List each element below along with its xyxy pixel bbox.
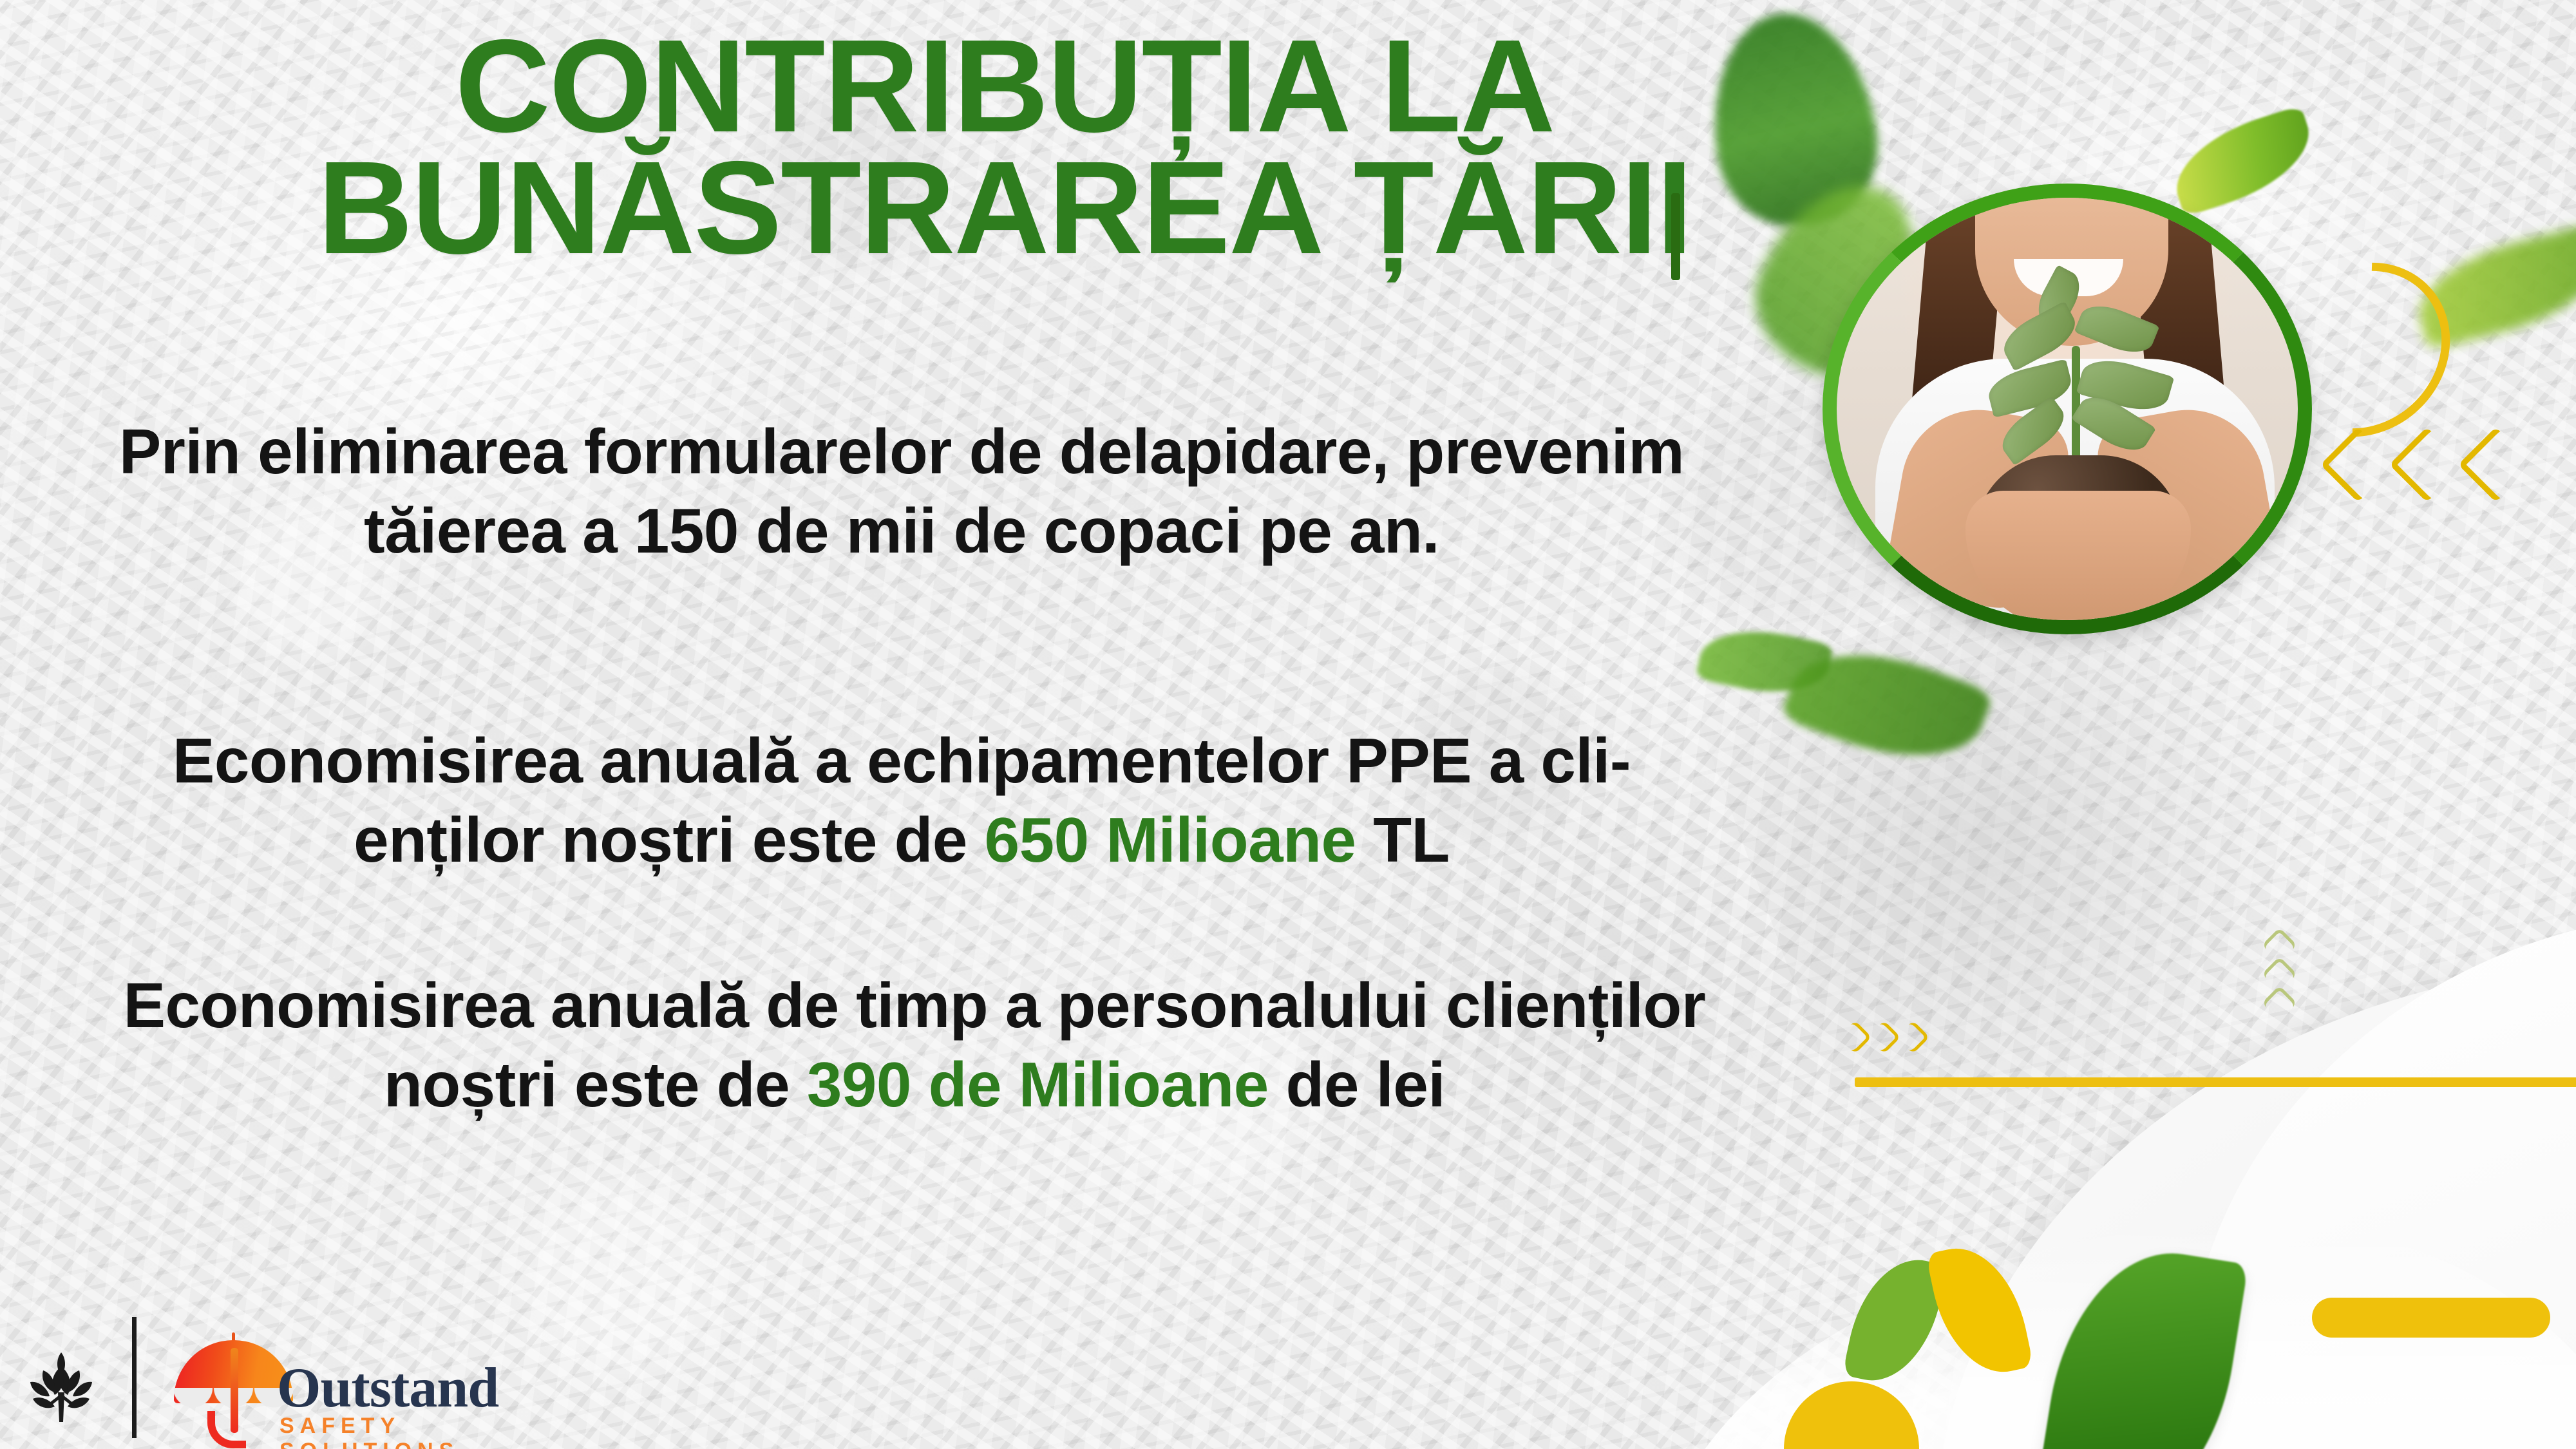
blurred-leaf-icon-below-circle <box>1779 627 1994 784</box>
logo-brand-name: Outstand <box>277 1356 498 1421</box>
ppe-text-after: TL <box>1356 804 1449 875</box>
ppe-highlight-amount: 650 Milioane <box>985 804 1356 875</box>
chevron-left-icon <box>2389 427 2465 502</box>
blurred-leaf-icon-below-circle-2 <box>1695 618 1833 705</box>
chevron-right-icon <box>1896 1020 1929 1054</box>
paragraph-trees-saved: Prin eliminarea formularelor de delapida… <box>77 412 1726 571</box>
green-bar-accent <box>1671 193 1680 280</box>
chevron-right-icon <box>1838 1020 1871 1054</box>
chevron-right-icon <box>1867 1020 1900 1054</box>
brand-logo[interactable]: Outstand SAFETY SOLUTIONS <box>19 1311 509 1439</box>
title-line-2: BUNĂSTRAREA ȚĂRII <box>245 147 1765 269</box>
time-highlight-amount: 390 de Milioane <box>807 1049 1269 1120</box>
paragraph-ppe-savings: Economisirea anuală a echipamentelor PPE… <box>103 721 1700 880</box>
chevron-left-icon-group <box>2331 438 2523 491</box>
photo-container <box>1823 184 2325 641</box>
page-title: CONTRIBUȚIA LA BUNĂSTRAREA ȚĂRII <box>245 26 1765 269</box>
yellow-divider-line <box>1855 1077 2576 1087</box>
logo-tagline: SAFETY SOLUTIONS <box>279 1414 509 1449</box>
seedling-photo <box>1823 184 2312 634</box>
chevron-right-icon-group <box>1843 1025 1925 1049</box>
chevron-up-icon <box>2262 927 2297 963</box>
chevron-left-icon <box>2320 427 2396 502</box>
umbrella-icon <box>174 1329 293 1441</box>
chevron-up-icon <box>2262 985 2297 1021</box>
slide-canvas: CONTRIBUȚIA LA BUNĂSTRAREA ȚĂRII Prin el… <box>0 0 2576 1449</box>
paragraph-time-savings: Economisirea anuală de timp a personalul… <box>71 966 1758 1125</box>
yellow-rounded-bar <box>2312 1298 2550 1338</box>
chevron-left-icon <box>2458 427 2533 502</box>
logo-divider <box>132 1317 137 1438</box>
paragraph-trees-saved-text: Prin eliminarea formularelor de delapida… <box>119 416 1684 566</box>
chevron-up-icon-group <box>2267 933 2292 1016</box>
umbrella-handle <box>207 1411 246 1448</box>
tree-icon <box>23 1346 100 1430</box>
time-text-after: de lei <box>1269 1049 1445 1120</box>
chevron-up-icon <box>2262 956 2297 992</box>
